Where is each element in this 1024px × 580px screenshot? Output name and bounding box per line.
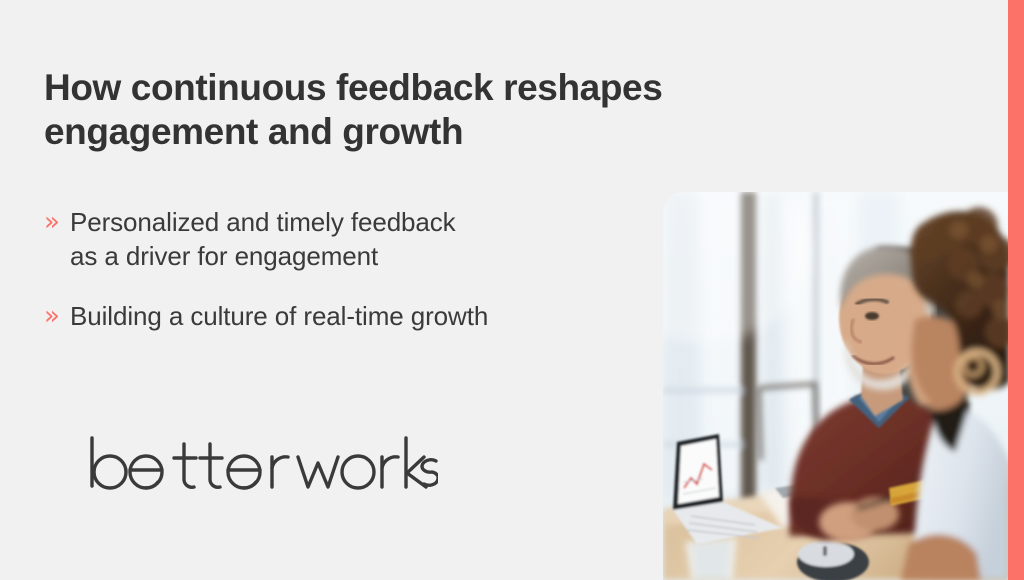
- right-accent-bar: [1008, 0, 1024, 580]
- bullet-list: » Personalized and timely feedback as a …: [44, 205, 644, 359]
- office-meeting-photo-icon: [663, 192, 1009, 580]
- text-column: How continuous feedback reshapes engagem…: [44, 0, 664, 580]
- hero-photo: [663, 192, 1009, 580]
- list-item-label: Personalized and timely feedback as a dr…: [70, 205, 456, 273]
- slide-canvas: How continuous feedback reshapes engagem…: [0, 0, 1024, 580]
- page-title: How continuous feedback reshapes engagem…: [44, 66, 844, 153]
- list-item-label: Building a culture of real-time growth: [70, 299, 488, 333]
- double-chevron-icon: »: [44, 299, 70, 333]
- double-chevron-icon: »: [44, 205, 70, 239]
- list-item: » Building a culture of real-time growth: [44, 299, 644, 333]
- list-item: » Personalized and timely feedback as a …: [44, 205, 644, 273]
- betterworks-logo: [88, 436, 438, 494]
- logo-wordmark-icon: [88, 436, 438, 494]
